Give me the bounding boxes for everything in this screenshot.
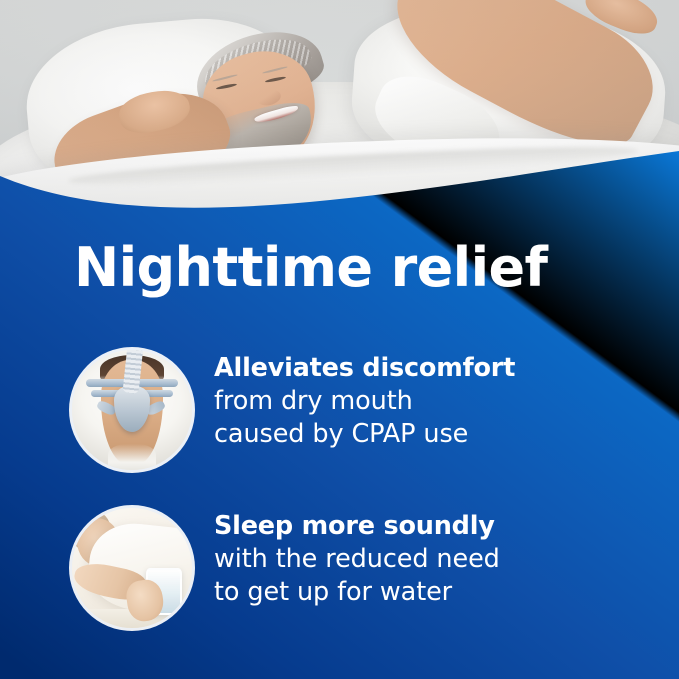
glass-of-water-thumbnail bbox=[72, 508, 192, 628]
page-title: Nighttime relief bbox=[74, 241, 547, 295]
benefit-1-line-2: caused by CPAP use bbox=[214, 418, 515, 451]
benefit-1-line-1: from dry mouth bbox=[214, 385, 515, 418]
benefit-1-title: Alleviates discomfort bbox=[214, 352, 515, 385]
benefit-2-line-1: with the reduced need bbox=[214, 543, 500, 576]
product-benefit-card: Nighttime relief Alleviates discomfort f… bbox=[0, 0, 679, 679]
benefit-item-2: Sleep more soundly with the reduced need… bbox=[72, 508, 632, 628]
benefit-2-title: Sleep more soundly bbox=[214, 510, 500, 543]
benefit-2-text: Sleep more soundly with the reduced need… bbox=[214, 508, 500, 609]
benefit-2-line-2: to get up for water bbox=[214, 576, 500, 609]
benefit-item-1: Alleviates discomfort from dry mouth cau… bbox=[72, 350, 632, 470]
cpap-mask-thumbnail bbox=[72, 350, 192, 470]
cpap-bedding bbox=[108, 444, 156, 470]
benefit-1-text: Alleviates discomfort from dry mouth cau… bbox=[214, 350, 515, 451]
card-content: Nighttime relief Alleviates discomfort f… bbox=[0, 0, 679, 679]
